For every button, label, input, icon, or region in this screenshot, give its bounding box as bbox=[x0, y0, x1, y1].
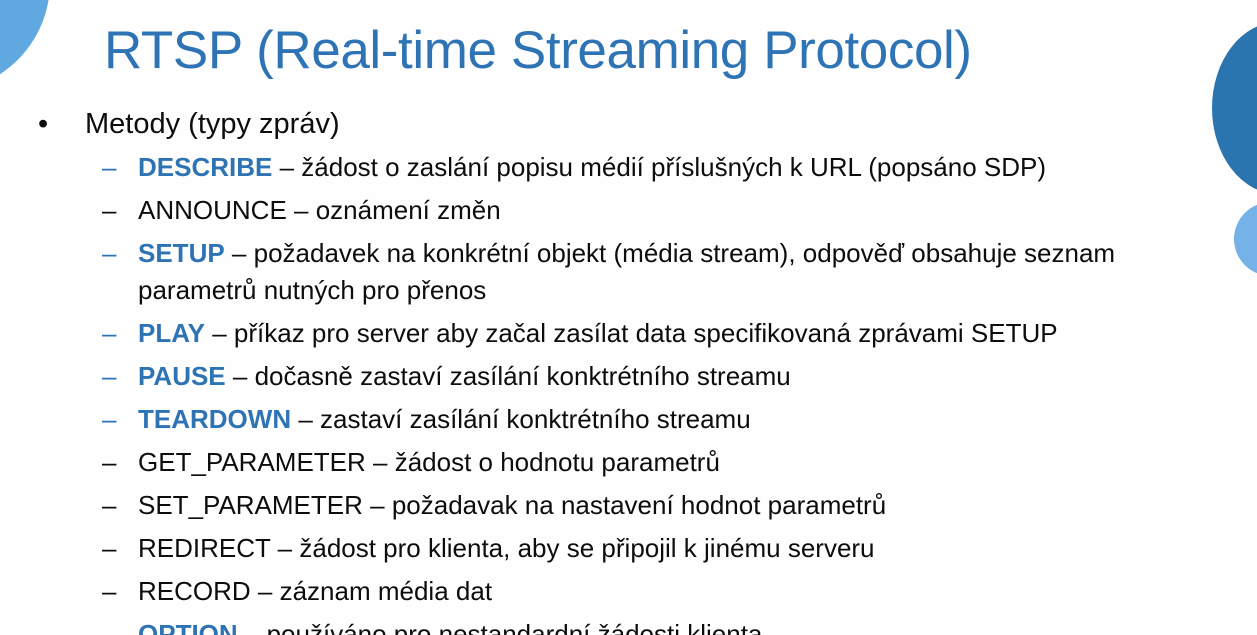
method-description: používáno pro nestandardní žádosti klien… bbox=[267, 619, 763, 635]
method-description: požadavek na konkrétní objekt (média str… bbox=[138, 238, 1115, 305]
method-separator: – bbox=[238, 619, 267, 635]
dash-marker-icon: – bbox=[102, 235, 138, 272]
method-text: PAUSE – dočasně zastaví zasílání konktré… bbox=[138, 358, 1217, 395]
method-text: OPTION – používáno pro nestandardní žádo… bbox=[138, 616, 1217, 635]
method-keyword: REDIRECT bbox=[138, 533, 270, 563]
method-keyword: SETUP bbox=[138, 238, 225, 268]
method-text: DESCRIBE – žádost o zaslání popisu médií… bbox=[138, 149, 1217, 186]
method-list: –DESCRIBE – žádost o zaslání popisu médi… bbox=[0, 149, 1257, 635]
dash-marker-icon: – bbox=[102, 487, 138, 524]
method-item: –SETUP – požadavek na konkrétní objekt (… bbox=[0, 235, 1257, 309]
method-keyword: ANNOUNCE bbox=[138, 195, 287, 225]
method-text: REDIRECT – žádost pro klienta, aby se př… bbox=[138, 530, 1217, 567]
slide: RTSP (Real-time Streaming Protocol) • Me… bbox=[0, 0, 1257, 635]
method-item: –PLAY – příkaz pro server aby začal zasí… bbox=[0, 315, 1257, 352]
method-item: –RECORD – záznam média dat bbox=[0, 573, 1257, 610]
method-separator: – bbox=[363, 490, 392, 520]
method-description: dočasně zastaví zasílání konktrétního st… bbox=[255, 361, 791, 391]
dash-marker-icon: – bbox=[102, 401, 138, 438]
dash-marker-icon: – bbox=[102, 358, 138, 395]
method-keyword: GET_PARAMETER bbox=[138, 447, 366, 477]
dash-marker-icon: – bbox=[102, 444, 138, 481]
method-item: –TEARDOWN – zastaví zasílání konktrétníh… bbox=[0, 401, 1257, 438]
method-text: SETUP – požadavek na konkrétní objekt (m… bbox=[138, 235, 1217, 309]
method-separator: – bbox=[291, 404, 320, 434]
method-item: –REDIRECT – žádost pro klienta, aby se p… bbox=[0, 530, 1257, 567]
method-separator: – bbox=[225, 238, 254, 268]
dash-marker-icon: – bbox=[102, 149, 138, 186]
method-text: SET_PARAMETER – požadavak na nastavení h… bbox=[138, 487, 1217, 524]
bullet-marker-icon: • bbox=[38, 104, 85, 145]
method-separator: – bbox=[287, 195, 316, 225]
dash-marker-icon: – bbox=[102, 616, 138, 635]
dash-marker-icon: – bbox=[102, 315, 138, 352]
method-separator: – bbox=[226, 361, 255, 391]
method-keyword: TEARDOWN bbox=[138, 404, 291, 434]
bullet-item-methods: • Metody (typy zpráv) bbox=[0, 104, 1257, 145]
decoration-top-left-quarter-circle bbox=[0, 0, 50, 92]
method-text: TEARDOWN – zastaví zasílání konktrétního… bbox=[138, 401, 1217, 438]
method-separator: – bbox=[205, 318, 234, 348]
method-item: –ANNOUNCE – oznámení změn bbox=[0, 192, 1257, 229]
method-text: ANNOUNCE – oznámení změn bbox=[138, 192, 1217, 229]
method-description: zastaví zasílání konktrétního streamu bbox=[320, 404, 751, 434]
method-separator: – bbox=[270, 533, 299, 563]
method-keyword: DESCRIBE bbox=[138, 152, 272, 182]
method-keyword: PLAY bbox=[138, 318, 205, 348]
dash-marker-icon: – bbox=[102, 192, 138, 229]
method-description: žádost o zaslání popisu médií příslušnýc… bbox=[301, 152, 1046, 182]
method-item: –SET_PARAMETER – požadavak na nastavení … bbox=[0, 487, 1257, 524]
method-text: RECORD – záznam média dat bbox=[138, 573, 1217, 610]
method-keyword: PAUSE bbox=[138, 361, 226, 391]
method-description: oznámení změn bbox=[316, 195, 501, 225]
method-item: –GET_PARAMETER – žádost o hodnotu parame… bbox=[0, 444, 1257, 481]
method-item: –OPTION – používáno pro nestandardní žád… bbox=[0, 616, 1257, 635]
method-item: –PAUSE – dočasně zastaví zasílání konktr… bbox=[0, 358, 1257, 395]
method-keyword: OPTION bbox=[138, 619, 238, 635]
slide-title: RTSP (Real-time Streaming Protocol) bbox=[104, 18, 1164, 84]
method-text: PLAY – příkaz pro server aby začal zasíl… bbox=[138, 315, 1217, 352]
method-text: GET_PARAMETER – žádost o hodnotu paramet… bbox=[138, 444, 1217, 481]
method-description: příkaz pro server aby začal zasílat data… bbox=[234, 318, 1058, 348]
method-separator: – bbox=[251, 576, 280, 606]
dash-marker-icon: – bbox=[102, 530, 138, 567]
method-separator: – bbox=[366, 447, 395, 477]
method-item: –DESCRIBE – žádost o zaslání popisu médi… bbox=[0, 149, 1257, 186]
method-description: žádost o hodnotu parametrů bbox=[395, 447, 720, 477]
method-description: požadavak na nastavení hodnot parametrů bbox=[392, 490, 886, 520]
method-separator: – bbox=[272, 152, 301, 182]
method-description: záznam média dat bbox=[280, 576, 492, 606]
dash-marker-icon: – bbox=[102, 573, 138, 610]
method-description: žádost pro klienta, aby se připojil k ji… bbox=[299, 533, 874, 563]
method-keyword: RECORD bbox=[138, 576, 251, 606]
slide-body: • Metody (typy zpráv) –DESCRIBE – žádost… bbox=[0, 104, 1257, 635]
method-keyword: SET_PARAMETER bbox=[138, 490, 363, 520]
bullet-item-label: Metody (typy zpráv) bbox=[85, 104, 1257, 145]
